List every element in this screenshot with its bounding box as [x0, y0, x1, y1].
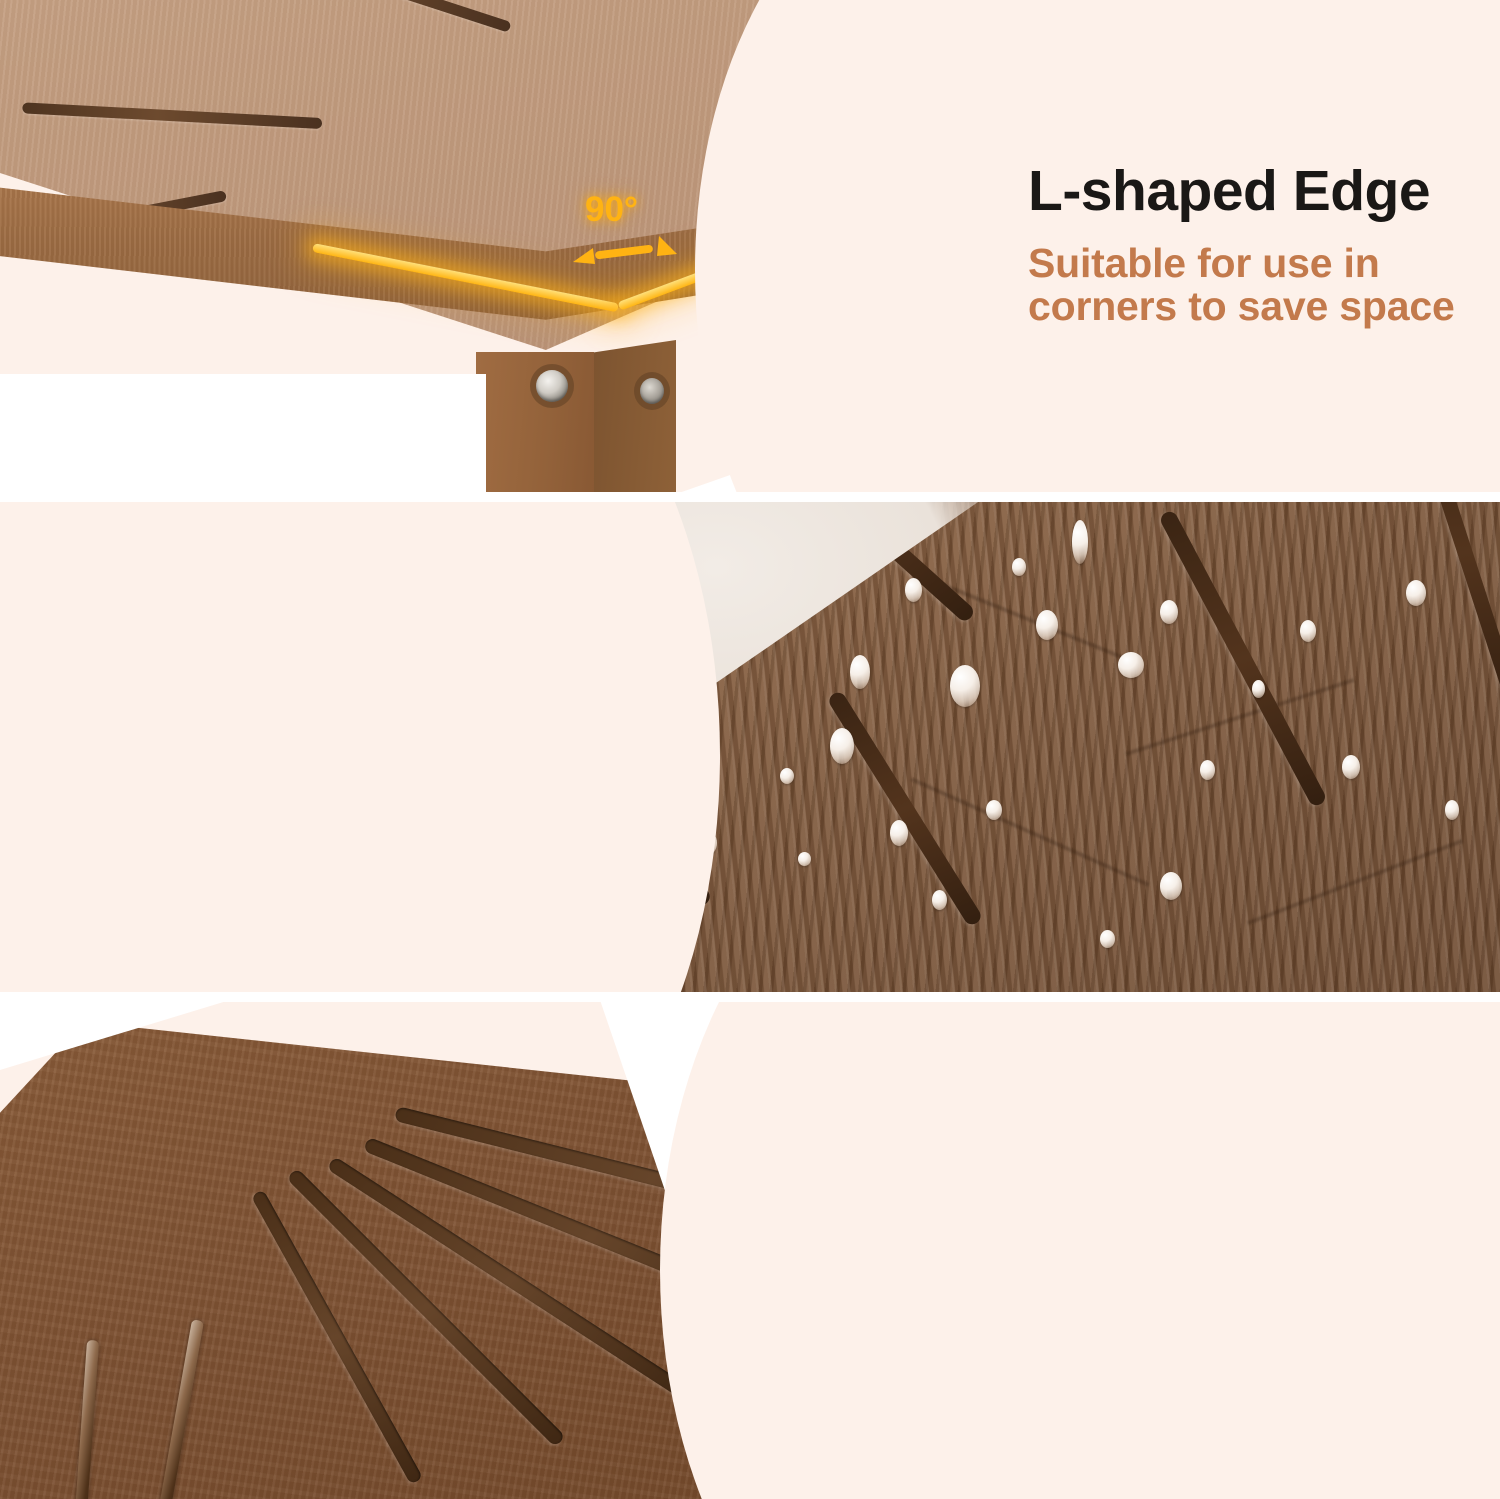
panel-divider	[0, 492, 1500, 502]
wet-surface-photo	[600, 500, 1500, 994]
water-droplet	[1036, 610, 1058, 640]
bolt-icon	[640, 378, 664, 404]
feature-subtitle-line1: Suitable for use in	[1028, 240, 1380, 286]
photo-backdrop-left	[0, 374, 486, 494]
water-droplet	[950, 665, 980, 707]
table-corner-photo: 90°	[0, 0, 985, 494]
water-droplet	[850, 655, 870, 689]
bolt-icon	[536, 370, 568, 402]
grain-board-photo	[0, 1000, 960, 1499]
water-droplet	[1118, 652, 1144, 678]
table-leg-front	[476, 352, 594, 494]
feature-panel-wood-like-grain: Wood-like Grain Comfortable Touch	[0, 1000, 1500, 1499]
angle-arrows-icon	[573, 232, 678, 266]
water-droplet	[1300, 620, 1316, 642]
feature-panel-fence-panel-design: Fence Panel Design Waterproof & Fast-Dra…	[0, 500, 1500, 994]
water-droplet	[1072, 520, 1088, 564]
water-droplet	[798, 852, 811, 866]
water-droplet	[986, 800, 1002, 820]
water-droplet	[1160, 600, 1178, 624]
feature-subtitle-line2: corners to save space	[1028, 283, 1455, 329]
water-droplet	[1445, 800, 1459, 820]
panel-divider	[0, 992, 1500, 1002]
angle-annotation-label: 90°	[585, 192, 638, 227]
water-droplet	[1012, 558, 1026, 576]
water-droplet	[905, 578, 922, 602]
water-droplet	[1406, 580, 1426, 606]
photo-curve-mask	[660, 1000, 960, 1499]
water-droplet	[890, 820, 908, 846]
water-droplet	[1100, 930, 1115, 948]
table-leg-side	[594, 340, 676, 494]
feature-subtitle: Suitable for use in corners to save spac…	[1028, 242, 1455, 329]
water-droplet	[1160, 872, 1182, 900]
water-droplet	[780, 768, 794, 784]
water-droplet	[1200, 760, 1215, 780]
feature-panel-l-shaped-edge: 90° L-shaped Edge	[0, 0, 1500, 494]
water-droplet	[830, 728, 854, 764]
photo-curve-mask	[695, 0, 985, 494]
feature-text-l-shaped-edge: L-shaped Edge Suitable for use in corner…	[1028, 163, 1455, 329]
water-droplet	[1252, 680, 1265, 698]
product-feature-sheet: 90° L-shaped Edge	[0, 0, 1500, 1499]
water-droplet	[932, 890, 947, 910]
feature-title: L-shaped Edge	[1028, 163, 1455, 220]
water-droplet	[1342, 755, 1360, 779]
